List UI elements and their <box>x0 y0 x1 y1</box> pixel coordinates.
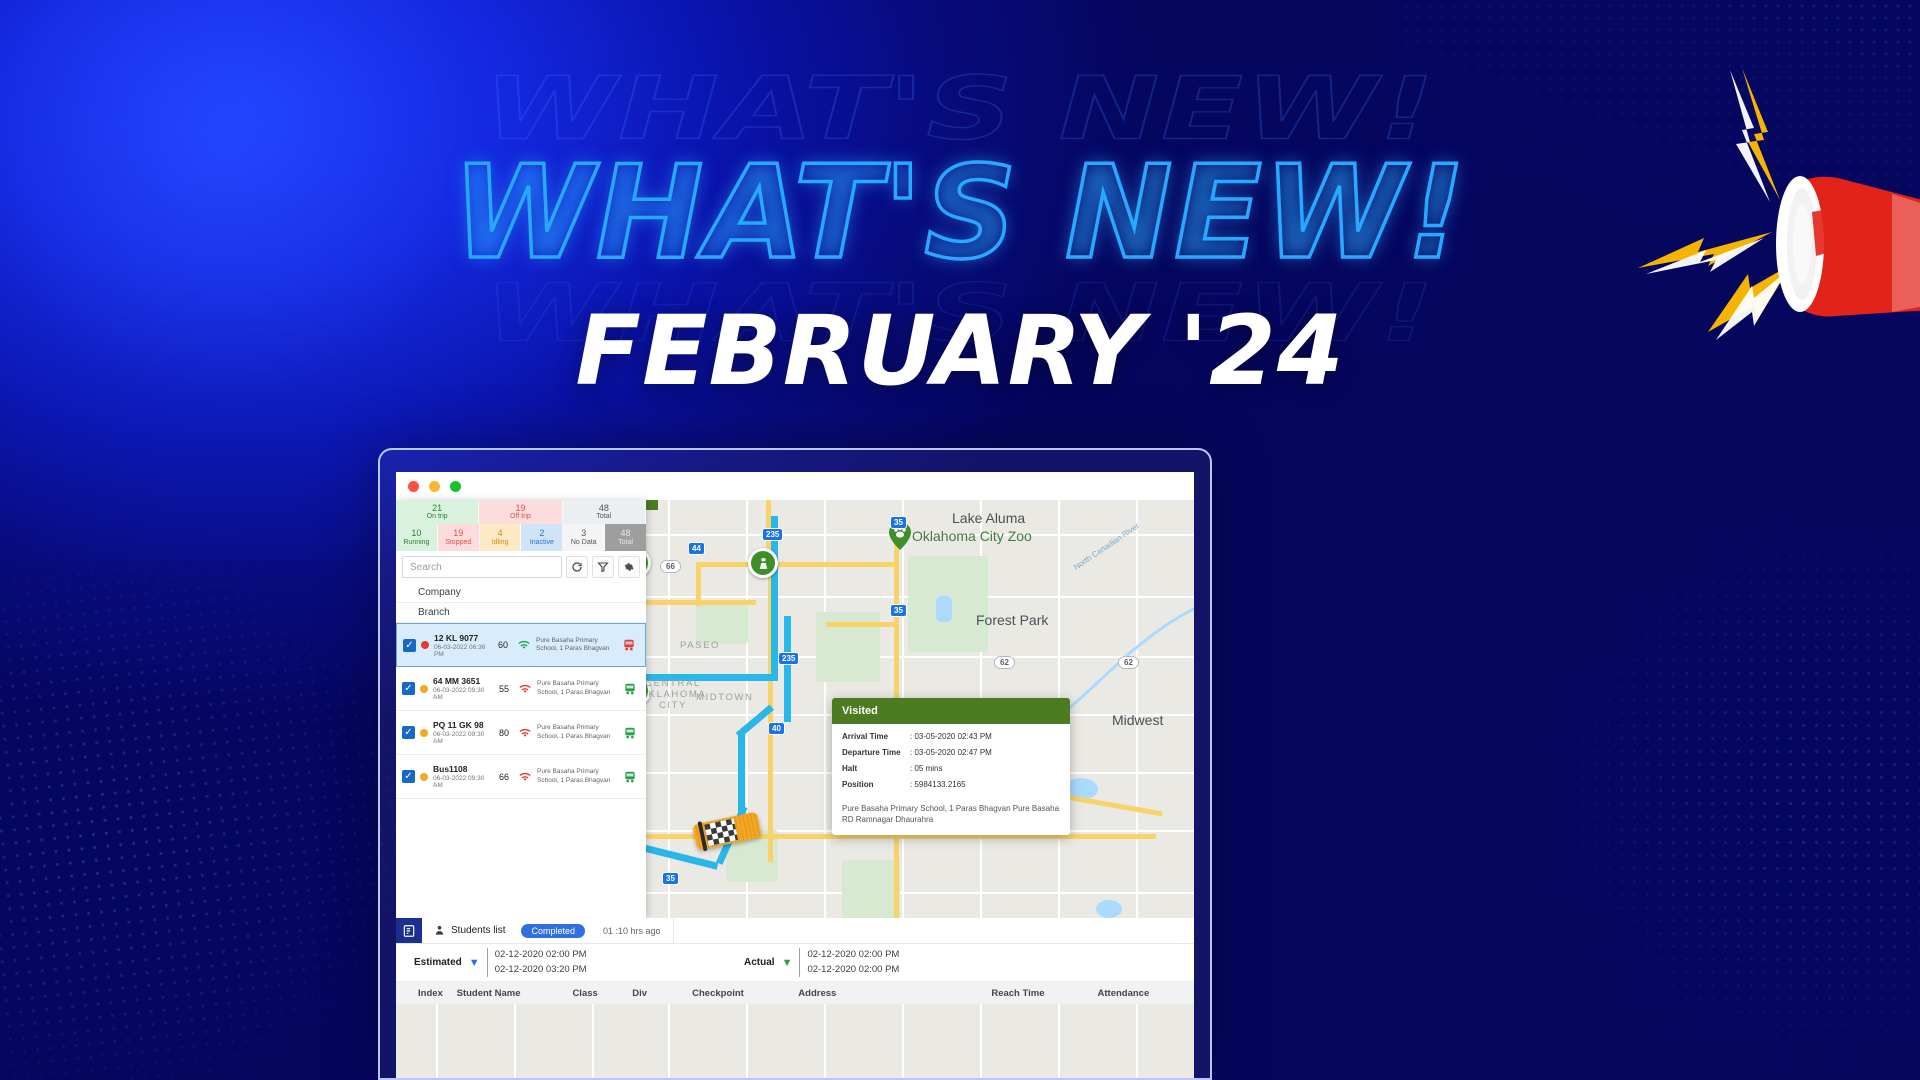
info-row-value: : 5984133.2165 <box>910 780 966 789</box>
trip-times-row: Estimated ▼ 02-12-2020 02:00 PM 02-12-20… <box>396 944 1194 982</box>
info-row-key: Halt <box>842 764 910 773</box>
status-count: 4 <box>498 528 503 538</box>
status-total-primary[interactable]: 48 Total <box>563 500 646 524</box>
actual-times-group: Actual ▼ 02-12-2020 02:00 PM 02-12-2020 … <box>744 948 899 977</box>
status-badge <box>420 773 428 781</box>
info-row-key: Arrival Time <box>842 732 910 741</box>
search-placeholder: Search <box>410 562 442 573</box>
vehicle-timestamp: 06-03-2022 06:36 PM <box>434 644 489 658</box>
info-row: Halt : 05 mins <box>842 764 1060 773</box>
status-inactive[interactable]: 2 Inactive <box>521 524 563 551</box>
megaphone-body <box>1776 176 1920 317</box>
info-window-title: Visited <box>832 698 1070 724</box>
info-row-key: Departure Time <box>842 748 910 757</box>
tab-label: Students list <box>451 925 505 936</box>
map-label-zoo: Oklahoma City Zoo <box>912 528 1032 544</box>
estimated-label: Estimated <box>414 957 462 968</box>
row-checkbox[interactable]: ✓ <box>402 682 415 695</box>
bus-icon[interactable] <box>620 770 640 784</box>
map-label-lake-aluma: Lake Aluma <box>952 510 1025 526</box>
column-checkpoint[interactable]: Checkpoint <box>692 988 798 999</box>
status-label: Running <box>403 539 429 547</box>
column-attendance[interactable]: Attendance <box>1098 988 1195 999</box>
person-icon <box>434 925 445 936</box>
actual-time-end: 02-12-2020 02:00 PM <box>807 963 899 977</box>
vehicle-info: 12 KL 9077 06-03-2022 06:36 PM <box>434 633 489 658</box>
status-label: Stopped <box>445 539 471 547</box>
row-checkbox[interactable]: ✓ <box>403 639 416 652</box>
status-label: Total <box>596 513 611 521</box>
vehicle-timestamp: 06-03-2022 09:30 AM <box>433 775 490 789</box>
route-shield-40: 40 <box>768 722 785 735</box>
list-item[interactable]: ✓ 12 KL 9077 06-03-2022 06:36 PM 60 Pure… <box>396 623 646 667</box>
row-checkbox[interactable]: ✓ <box>402 726 415 739</box>
route-shield-235: 235 <box>778 652 799 665</box>
status-label: Off trip <box>510 513 531 521</box>
panel-toolbar: Search <box>396 551 646 583</box>
vehicle-timestamp: 06-03-2022 09:30 AM <box>433 687 490 701</box>
route-shield-44: 44 <box>688 542 705 555</box>
status-running[interactable]: 10 Running <box>396 524 438 551</box>
signal-icon <box>518 772 532 782</box>
map-label-forest-park: Forest Park <box>976 612 1048 628</box>
info-window-rows: Arrival Time : 03-05-2020 02:43 PM Depar… <box>832 724 1070 800</box>
window-close-dot[interactable] <box>408 481 419 492</box>
info-window-address: Pure Basaha Primary School, 1 Paras Bhag… <box>832 800 1070 835</box>
column-class[interactable]: Class <box>572 988 632 999</box>
estimated-time-end: 02-12-2020 03:20 PM <box>495 963 587 977</box>
bus-icon[interactable] <box>619 638 639 652</box>
list-item[interactable]: ✓ PQ 11 GK 98 06-03-2022 09:30 AM 80 Pur… <box>396 711 646 755</box>
filter-icon[interactable] <box>592 556 614 578</box>
route-shield-35: 35 <box>890 604 907 617</box>
megaphone-illustration <box>1630 60 1920 340</box>
vehicle-name: 12 KL 9077 <box>434 633 489 643</box>
status-nodata[interactable]: 3 No Data <box>563 524 605 551</box>
tracking-app: 3A 66 44 235 35 35 235 40 40 35 62 62 Be… <box>396 500 1194 1078</box>
column-student-name[interactable]: Student Name <box>457 988 573 999</box>
signal-icon <box>517 640 531 650</box>
background-dot-pattern-right <box>1420 420 1920 1080</box>
students-table-header: Index Student Name Class Div Checkpoint … <box>396 982 1194 1004</box>
estimated-times-group: Estimated ▼ 02-12-2020 02:00 PM 02-12-20… <box>414 948 744 977</box>
map-info-window: Visited Arrival Time : 03-05-2020 02:43 … <box>832 698 1070 835</box>
vehicle-name: Bus1108 <box>433 764 490 774</box>
vehicle-info: PQ 11 GK 98 06-03-2022 09:30 AM <box>433 720 490 745</box>
status-count: 3 <box>581 528 586 538</box>
bus-icon[interactable] <box>620 682 640 696</box>
column-index[interactable]: Index <box>396 988 457 999</box>
elapsed-time: 01 :10 hrs ago <box>603 926 661 936</box>
info-row: Arrival Time : 03-05-2020 02:43 PM <box>842 732 1060 741</box>
list-item[interactable]: ✓ Bus1108 06-03-2022 09:30 AM 66 Pure Ba… <box>396 755 646 799</box>
status-count: 10 <box>411 528 421 538</box>
tab-students-list[interactable]: Students list Completed 01 :10 hrs ago <box>422 918 674 943</box>
status-offtrip[interactable]: 19 Off trip <box>479 500 562 524</box>
search-input[interactable]: Search <box>402 556 562 578</box>
status-label: Total <box>618 539 633 547</box>
window-minimize-dot[interactable] <box>429 481 440 492</box>
vehicle-info: Bus1108 06-03-2022 09:30 AM <box>433 764 490 789</box>
group-header-company[interactable]: Company <box>396 583 646 603</box>
vehicle-address: Pure Basaha Primary School, 1 Paras Bhag… <box>537 680 615 697</box>
row-checkbox[interactable]: ✓ <box>402 770 415 783</box>
info-row-value: : 03-05-2020 02:47 PM <box>910 748 992 757</box>
status-count: 2 <box>539 528 544 538</box>
actual-times: 02-12-2020 02:00 PM 02-12-2020 02:00 PM <box>799 948 899 977</box>
route-shield-235: 235 <box>762 528 783 541</box>
vehicle-value: 55 <box>495 684 513 694</box>
route-shield-35: 35 <box>890 516 907 529</box>
laptop-frame: 3A 66 44 235 35 35 235 40 40 35 62 62 Be… <box>378 448 1212 1080</box>
vehicle-list[interactable]: ✓ 12 KL 9077 06-03-2022 06:36 PM 60 Pure… <box>396 623 646 918</box>
status-label: No Data <box>571 539 597 547</box>
status-count: 19 <box>515 503 525 513</box>
vehicle-name: 64 MM 3651 <box>433 676 490 686</box>
status-label: Inactive <box>530 539 554 547</box>
map-stop-marker[interactable] <box>748 548 778 578</box>
column-address[interactable]: Address <box>798 988 991 999</box>
vehicle-value: 80 <box>495 728 513 738</box>
lightning-bolt-icon <box>1730 68 1780 202</box>
column-reach-time[interactable]: Reach Time <box>991 988 1097 999</box>
status-badge <box>420 729 428 737</box>
status-ontrip[interactable]: 21 On trip <box>396 500 479 524</box>
vehicle-timestamp: 06-03-2022 09:30 AM <box>433 731 490 745</box>
lightning-bolt-icon <box>1638 232 1772 274</box>
route-shield-66: 66 <box>660 560 681 573</box>
gear-icon[interactable] <box>618 556 640 578</box>
map-label-midwest: Midwest <box>1112 712 1163 728</box>
status-badge <box>421 641 429 649</box>
person-icon <box>757 557 770 570</box>
map-label-midtown: MIDTOWN <box>696 692 753 703</box>
signal-icon <box>518 684 532 694</box>
vehicle-value: 66 <box>495 772 513 782</box>
route-shield-62: 62 <box>994 656 1015 669</box>
vehicle-name: PQ 11 GK 98 <box>433 720 490 730</box>
group-header-branch[interactable]: Branch <box>396 603 646 623</box>
info-row-value: : 03-05-2020 02:43 PM <box>910 732 992 741</box>
window-maximize-dot[interactable] <box>450 481 461 492</box>
bus-icon[interactable] <box>620 726 640 740</box>
actual-time-start: 02-12-2020 02:00 PM <box>807 948 899 962</box>
window-titlebar <box>396 472 1194 500</box>
status-badge <box>420 685 428 693</box>
down-arrow-icon: ▼ <box>469 957 480 969</box>
signal-icon <box>518 728 532 738</box>
status-idling[interactable]: 4 Idling <box>480 524 522 551</box>
vehicle-address: Pure Basaha Primary School, 1 Paras Bhag… <box>536 637 614 654</box>
status-label: On trip <box>427 513 448 521</box>
status-summary-row-primary: 21 On trip 19 Off trip 48 Total <box>396 500 646 524</box>
status-summary-row-secondary: 10 Running 19 Stopped 4 Idling 2 Inactiv… <box>396 524 646 551</box>
down-arrow-icon: ▼ <box>782 957 793 969</box>
vehicle-address: Pure Basaha Primary School, 1 Paras Bhag… <box>537 768 615 785</box>
bottom-panel: Students list Completed 01 :10 hrs ago E… <box>396 918 1194 1078</box>
list-item[interactable]: ✓ 64 MM 3651 06-03-2022 09:30 AM 55 Pure… <box>396 667 646 711</box>
info-row-value: : 05 mins <box>910 764 942 773</box>
estimated-time-start: 02-12-2020 02:00 PM <box>495 948 587 962</box>
status-count: 19 <box>453 528 463 538</box>
info-row: Departure Time : 03-05-2020 02:47 PM <box>842 748 1060 757</box>
info-row: Position : 5984133.2165 <box>842 780 1060 789</box>
status-count: 48 <box>621 528 631 538</box>
map-label-river: North Canadian River <box>1072 521 1141 571</box>
status-count: 21 <box>432 503 442 513</box>
route-shield-62: 62 <box>1118 656 1139 669</box>
route-shield-35: 35 <box>662 872 679 885</box>
vehicle-value: 60 <box>494 640 512 650</box>
status-total-secondary[interactable]: 48 Total <box>605 524 646 551</box>
status-count: 48 <box>599 503 609 513</box>
map-label-paseo: PASEO <box>680 640 720 651</box>
status-label: Idling <box>492 539 509 547</box>
status-badge: Completed <box>521 924 585 938</box>
status-stopped[interactable]: 19 Stopped <box>438 524 480 551</box>
estimated-times: 02-12-2020 02:00 PM 02-12-2020 03:20 PM <box>487 948 587 977</box>
bottom-tab-bar: Students list Completed 01 :10 hrs ago <box>396 918 1194 944</box>
report-icon[interactable] <box>396 918 422 943</box>
vehicle-info: 64 MM 3651 06-03-2022 09:30 AM <box>433 676 490 701</box>
laptop-screen: 3A 66 44 235 35 35 235 40 40 35 62 62 Be… <box>396 472 1194 1078</box>
actual-label: Actual <box>744 957 775 968</box>
info-row-key: Position <box>842 780 910 789</box>
refresh-icon[interactable] <box>566 556 588 578</box>
column-div[interactable]: Div <box>632 988 692 999</box>
vehicle-address: Pure Basaha Primary School, 1 Paras Bhag… <box>537 724 615 741</box>
vehicle-panel: 21 On trip 19 Off trip 48 Total 10 <box>396 500 646 918</box>
